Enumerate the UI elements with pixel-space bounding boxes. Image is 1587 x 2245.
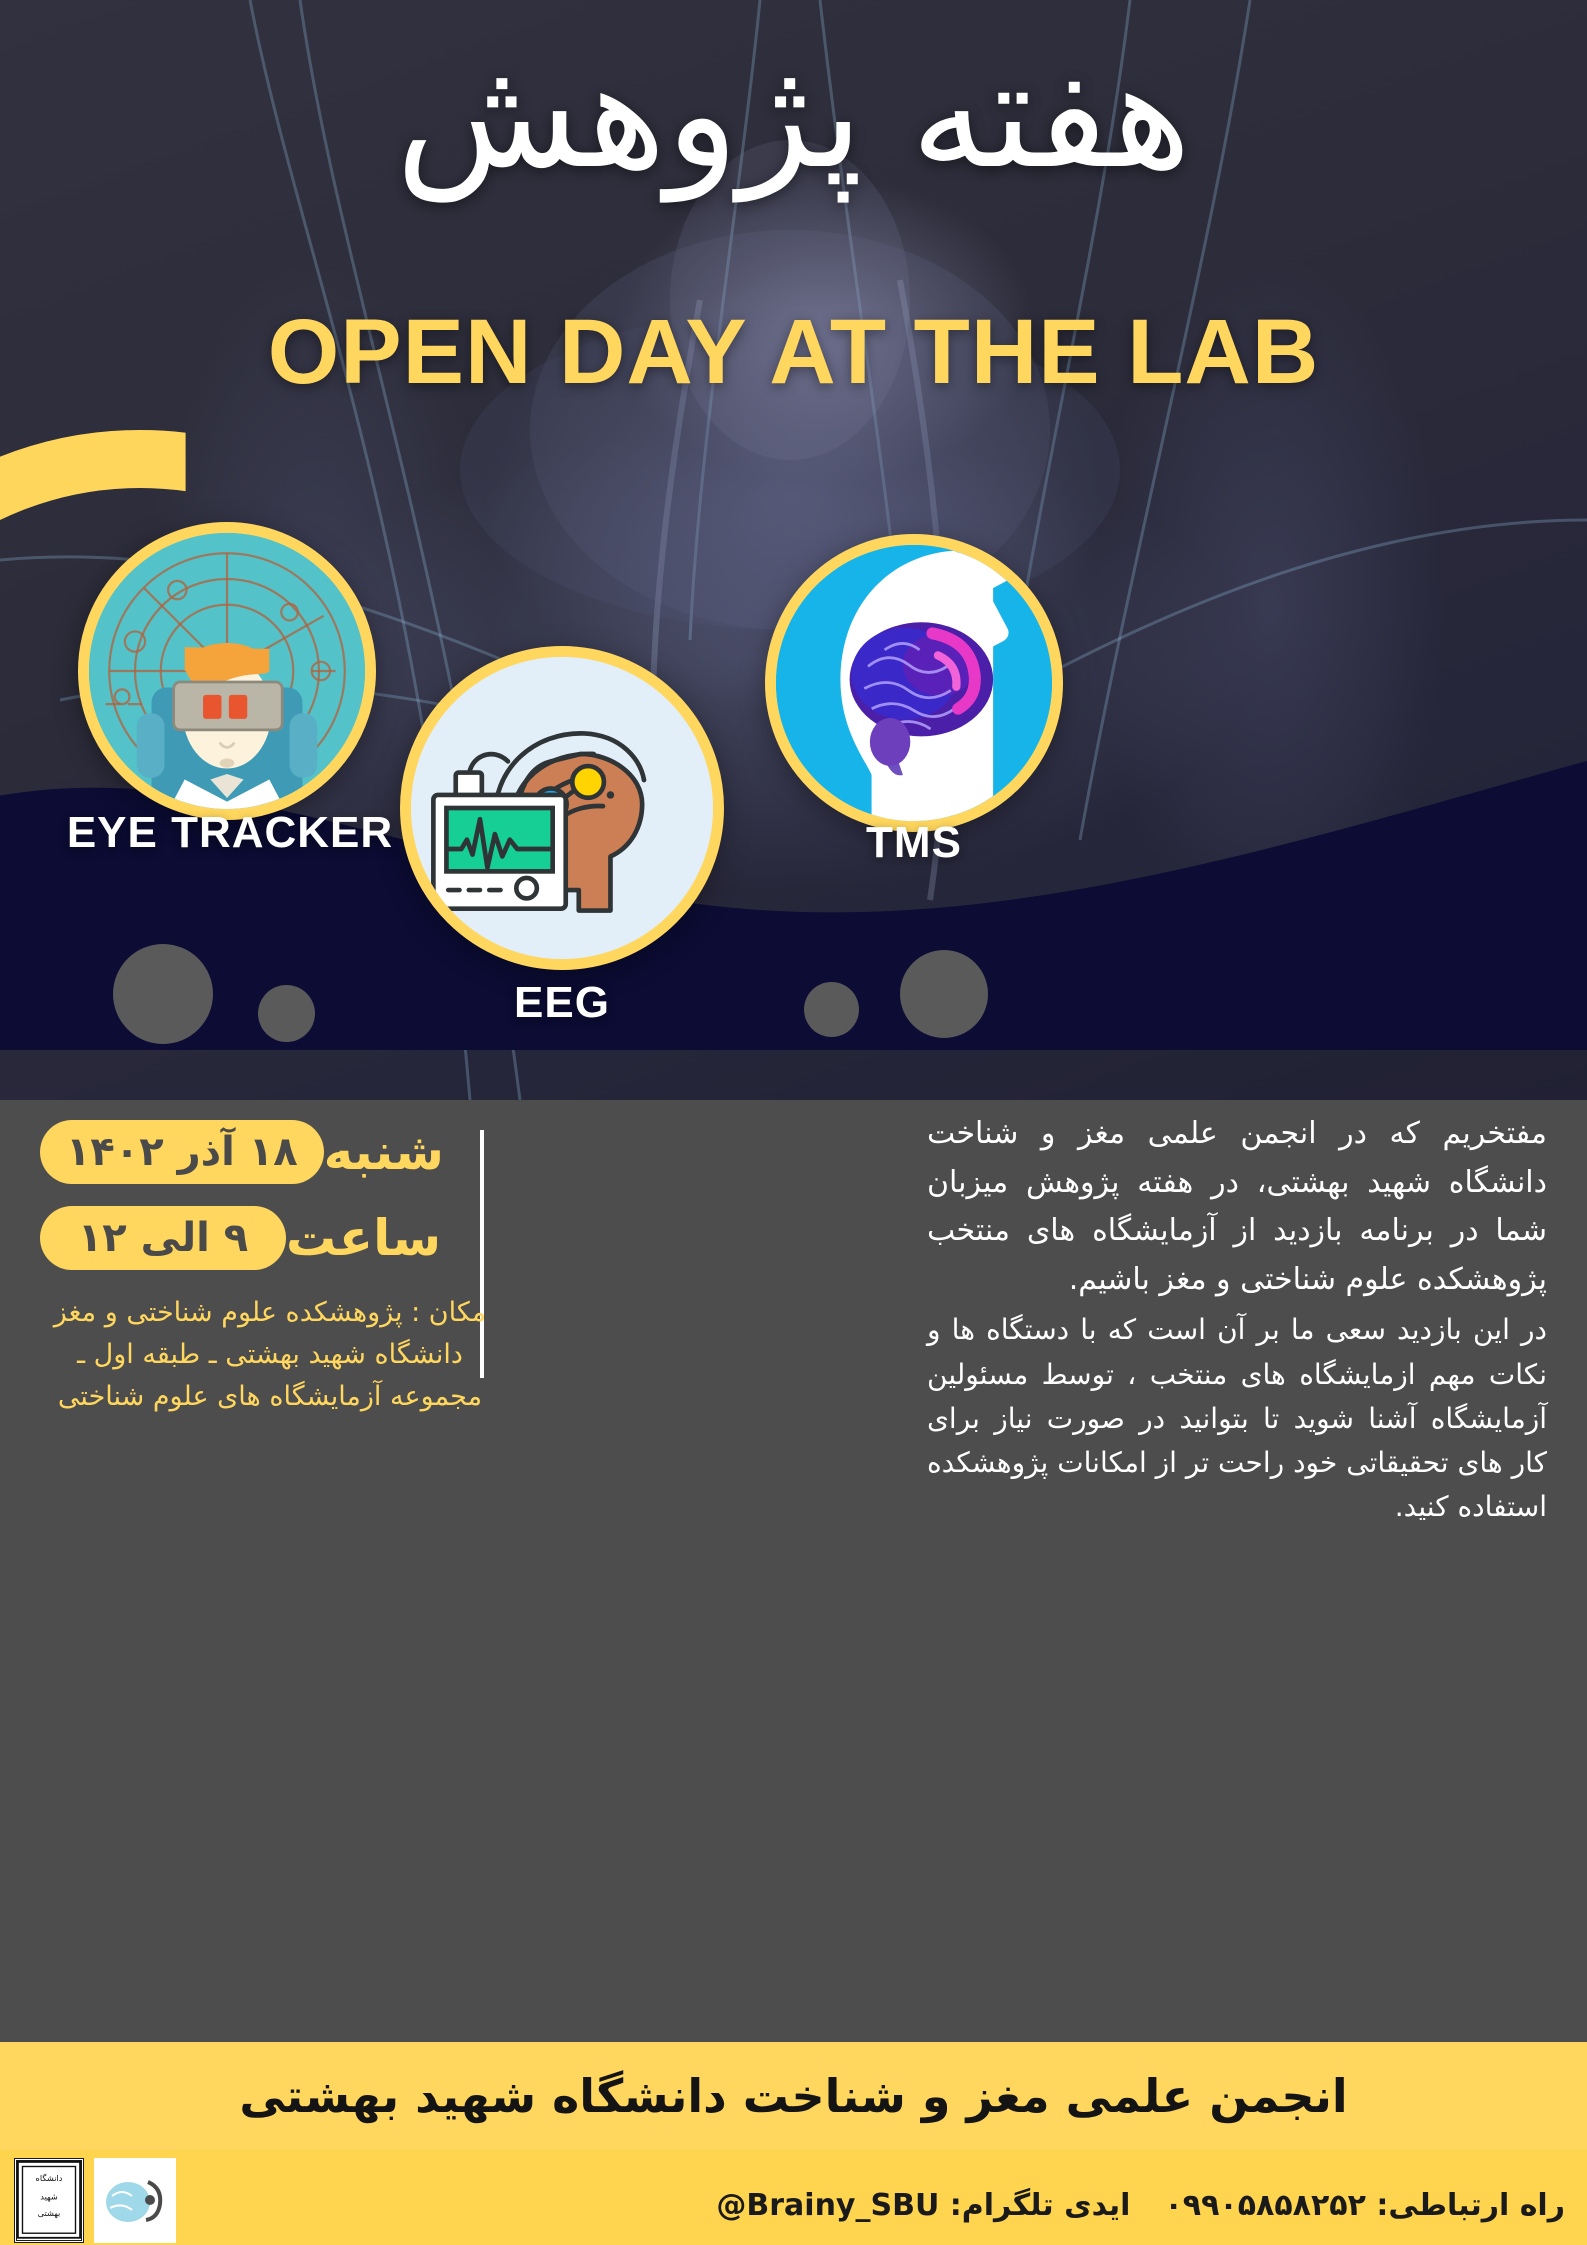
brainy-association-logo <box>94 2158 176 2243</box>
eye-tracker-illustration <box>89 533 365 809</box>
event-time-pill: ۹ الی ۱۲ <box>40 1206 286 1270</box>
event-details-block: شنبه ۱۸ آذر ۱۴۰۲ ساعت ۹ الی ۱۲ مکان : پژ… <box>40 1120 500 1418</box>
logo-group: دانشگاه شهید بهشتی <box>14 2158 176 2243</box>
tms-illustration <box>776 545 1052 821</box>
organization-name: انجمن علمی مغز و شناخت دانشگاه شهید بهشت… <box>239 2069 1347 2123</box>
brain-icon <box>94 2158 176 2243</box>
eye-tracker-icon <box>78 522 376 820</box>
tms-icon <box>765 534 1063 832</box>
bokeh-dot <box>900 950 988 1038</box>
sbu-logo-mark: دانشگاه شهید بهشتی <box>17 2161 81 2239</box>
bokeh-dot <box>804 982 859 1037</box>
eeg-illustration <box>411 657 713 959</box>
svg-text:بهشتی: بهشتی <box>38 2208 61 2218</box>
contact-info: راه ارتباطی: ۰۹۹۰۵۸۵۸۲۵۲ ایدی تلگرام: @B… <box>716 2188 1565 2223</box>
phone-contact: راه ارتباطی: ۰۹۹۰۵۸۵۸۲۵۲ <box>1164 2188 1565 2223</box>
telegram-label: ایدی تلگرام: <box>950 2188 1131 2223</box>
event-day-label: شنبه <box>324 1123 444 1181</box>
shahid-beheshti-university-logo: دانشگاه شهید بهشتی <box>14 2158 84 2243</box>
description-block: مفتخریم که در انجمن علمی مغز و شناخت دان… <box>927 1110 1547 1534</box>
event-date-pill: ۱۸ آذر ۱۴۰۲ <box>40 1120 324 1184</box>
eeg-label: EEG <box>400 978 724 1028</box>
contact-label: راه ارتباطی: <box>1376 2188 1565 2223</box>
page-title-english: OPEN DAY AT THE LAB <box>0 300 1587 405</box>
description-paragraph-1: مفتخریم که در انجمن علمی مغز و شناخت دان… <box>927 1110 1547 1304</box>
phone-number: ۰۹۹۰۵۸۵۸۲۵۲ <box>1164 2188 1365 2223</box>
bokeh-dot <box>113 944 213 1044</box>
event-time-label: ساعت <box>286 1209 441 1267</box>
eye-tracker-label: EYE TRACKER <box>60 808 400 858</box>
telegram-handle[interactable]: @Brainy_SBU <box>716 2188 939 2223</box>
poster-root: هفته پژوهش OPEN DAY AT THE LAB <box>0 0 1587 2245</box>
event-date-row: شنبه ۱۸ آذر ۱۴۰۲ <box>40 1120 500 1184</box>
eeg-icon <box>400 646 724 970</box>
bokeh-dot <box>258 985 315 1042</box>
organization-band: انجمن علمی مغز و شناخت دانشگاه شهید بهشت… <box>0 2042 1587 2150</box>
tms-label: TMS <box>760 818 1068 868</box>
telegram-contact[interactable]: ایدی تلگرام: @Brainy_SBU <box>716 2188 1130 2223</box>
svg-text:شهید: شهید <box>40 2191 58 2201</box>
event-time-row: ساعت ۹ الی ۱۲ <box>40 1206 500 1270</box>
svg-text:دانشگاه: دانشگاه <box>36 2173 63 2183</box>
event-location: مکان : پژوهشکده علوم شناختی و مغز دانشگا… <box>40 1292 500 1418</box>
description-paragraph-2: در این بازدید سعی ما بر آن است که با دست… <box>927 1308 1547 1529</box>
page-title-persian: هفته پژوهش <box>0 22 1587 210</box>
